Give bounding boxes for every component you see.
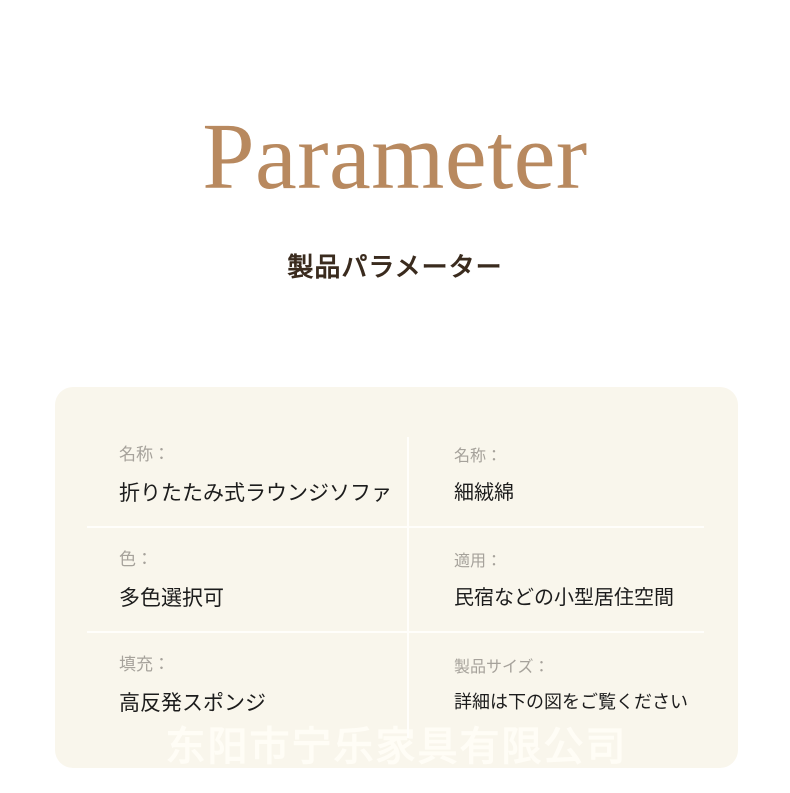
spec-value: 細絨綿	[454, 480, 694, 505]
product-parameter-page: Parameter 製品パラメーター 东阳市宁乐家具有限公司 名称： 折りたたみ…	[0, 0, 790, 793]
page-title: Parameter	[0, 110, 790, 204]
spec-label: 名称：	[454, 446, 694, 467]
spec-value: 折りたたみ式ラウンジソファ	[119, 480, 392, 506]
spec-cell-color: 色： 多色選択可	[87, 528, 408, 633]
spec-value: 民宿などの小型居住空間	[454, 585, 694, 610]
spec-value: 詳細は下の図をご覧ください	[454, 692, 694, 715]
page-subtitle: 製品パラメーター	[0, 254, 790, 283]
spec-value: 多色選択可	[119, 585, 392, 611]
spec-table: 名称： 折りたたみ式ラウンジソファ 名称： 細絨綿 色： 多色選択可 適用： 民…	[55, 387, 738, 768]
spec-label: 色：	[119, 549, 392, 571]
spec-label: 製品サイズ：	[454, 657, 694, 678]
spec-cell-size: 製品サイズ： 詳細は下の図をご覧ください	[408, 633, 704, 738]
spec-label: 名称：	[119, 444, 392, 466]
spec-label: 適用：	[454, 551, 694, 572]
spec-cell-name-material: 名称： 細絨綿	[408, 423, 704, 528]
spec-cell-filling: 填充： 高反発スポンジ	[87, 633, 408, 738]
spec-cell-usage: 適用： 民宿などの小型居住空間	[408, 528, 704, 633]
spec-label: 填充：	[119, 654, 392, 676]
spec-cell-name-product: 名称： 折りたたみ式ラウンジソファ	[87, 423, 408, 528]
spec-value: 高反発スポンジ	[119, 690, 392, 716]
spec-card: 东阳市宁乐家具有限公司 名称： 折りたたみ式ラウンジソファ 名称： 細絨綿 色：…	[55, 387, 738, 768]
